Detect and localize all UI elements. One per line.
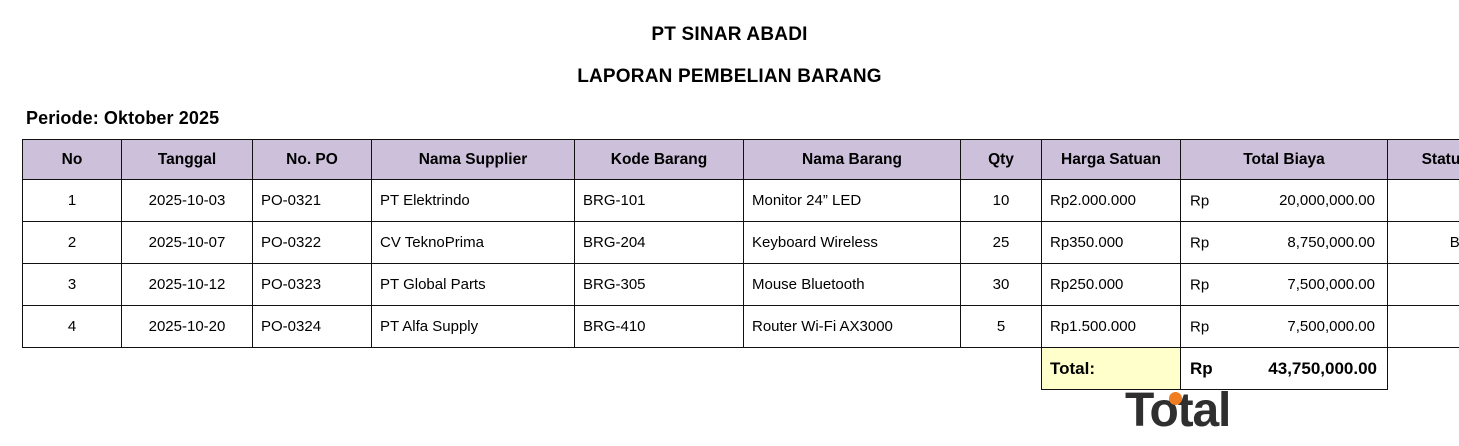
table-row[interactable]: 2 2025-10-07 PO-0322 CV TeknoPrima BRG-2… bbox=[23, 222, 1459, 264]
currency-symbol: Rp bbox=[1190, 276, 1209, 293]
purchase-report-table: No Tanggal No. PO Nama Supplier Kode Bar… bbox=[22, 139, 1459, 390]
orange-dot-icon bbox=[1169, 392, 1182, 405]
column-header-nama-supplier[interactable]: Nama Supplier bbox=[372, 140, 575, 180]
cell-tanggal: 2025-10-07 bbox=[122, 222, 253, 264]
spacer bbox=[575, 348, 744, 390]
amount-value: 7,500,000.00 bbox=[1181, 264, 1387, 305]
table-row[interactable]: 3 2025-10-12 PO-0323 PT Global Parts BRG… bbox=[23, 264, 1459, 306]
column-header-kode-barang[interactable]: Kode Barang bbox=[575, 140, 744, 180]
cell-no-po: PO-0323 bbox=[253, 264, 372, 306]
column-header-status-pembayaran[interactable]: Status Pembayaran bbox=[1388, 140, 1459, 180]
cell-nama-barang: Monitor 24” LED bbox=[744, 180, 961, 222]
cell-status-pembayaran: Lunas bbox=[1388, 180, 1459, 222]
cell-qty: 10 bbox=[961, 180, 1042, 222]
spacer bbox=[744, 348, 961, 390]
column-header-tanggal[interactable]: Tanggal bbox=[122, 140, 253, 180]
cell-status-pembayaran: Belum Lunas bbox=[1388, 222, 1459, 264]
cell-harga-satuan: Rp250.000 bbox=[1042, 264, 1181, 306]
spacer bbox=[1388, 348, 1459, 390]
cell-qty: 25 bbox=[961, 222, 1042, 264]
cell-total-biaya: Rp 7,500,000.00 bbox=[1181, 306, 1388, 348]
spacer bbox=[23, 348, 122, 390]
table-row[interactable]: 1 2025-10-03 PO-0321 PT Elektrindo BRG-1… bbox=[23, 180, 1459, 222]
amount-value: 20,000,000.00 bbox=[1181, 180, 1387, 221]
table-header-row: No Tanggal No. PO Nama Supplier Kode Bar… bbox=[23, 140, 1459, 180]
cell-total-biaya: Rp 20,000,000.00 bbox=[1181, 180, 1388, 222]
cell-no: 2 bbox=[23, 222, 122, 264]
spacer bbox=[122, 348, 253, 390]
cell-kode-barang: BRG-410 bbox=[575, 306, 744, 348]
cell-nama-barang: Router Wi-Fi AX3000 bbox=[744, 306, 961, 348]
cell-harga-satuan: Rp1.500.000 bbox=[1042, 306, 1181, 348]
cell-nama-supplier: CV TeknoPrima bbox=[372, 222, 575, 264]
amount-value: 7,500,000.00 bbox=[1181, 306, 1387, 347]
column-header-qty[interactable]: Qty bbox=[961, 140, 1042, 180]
column-header-no[interactable]: No bbox=[23, 140, 122, 180]
spacer bbox=[253, 348, 372, 390]
cell-tanggal: 2025-10-20 bbox=[122, 306, 253, 348]
period-label: Periode: Oktober 2025 bbox=[26, 108, 219, 129]
total-logo: Total bbox=[1125, 383, 1230, 439]
currency-symbol: Rp bbox=[1190, 192, 1209, 209]
column-header-harga-satuan[interactable]: Harga Satuan bbox=[1042, 140, 1181, 180]
table-body: 1 2025-10-03 PO-0321 PT Elektrindo BRG-1… bbox=[23, 180, 1459, 390]
document-title-block: PT SINAR ABADI LAPORAN PEMBELIAN BARANG bbox=[0, 22, 1459, 90]
cell-harga-satuan: Rp350.000 bbox=[1042, 222, 1181, 264]
cell-tanggal: 2025-10-12 bbox=[122, 264, 253, 306]
cell-kode-barang: BRG-101 bbox=[575, 180, 744, 222]
currency-symbol: Rp bbox=[1190, 234, 1209, 251]
report-title: LAPORAN PEMBELIAN BARANG bbox=[0, 64, 1459, 90]
amount-value: 8,750,000.00 bbox=[1181, 222, 1387, 263]
spacer bbox=[961, 348, 1042, 390]
cell-kode-barang: BRG-305 bbox=[575, 264, 744, 306]
total-summary-row: Total: Rp 43,750,000.00 bbox=[23, 348, 1459, 390]
cell-no: 1 bbox=[23, 180, 122, 222]
spacer bbox=[372, 348, 575, 390]
cell-status-pembayaran: Lunas bbox=[1388, 264, 1459, 306]
table-header: No Tanggal No. PO Nama Supplier Kode Bar… bbox=[23, 140, 1459, 180]
cell-no-po: PO-0324 bbox=[253, 306, 372, 348]
column-header-total-biaya[interactable]: Total Biaya bbox=[1181, 140, 1388, 180]
currency-symbol: Rp bbox=[1190, 318, 1209, 335]
cell-no: 3 bbox=[23, 264, 122, 306]
table-row[interactable]: 4 2025-10-20 PO-0324 PT Alfa Supply BRG-… bbox=[23, 306, 1459, 348]
cell-nama-barang: Mouse Bluetooth bbox=[744, 264, 961, 306]
cell-qty: 5 bbox=[961, 306, 1042, 348]
cell-qty: 30 bbox=[961, 264, 1042, 306]
cell-harga-satuan: Rp2.000.000 bbox=[1042, 180, 1181, 222]
cell-no-po: PO-0322 bbox=[253, 222, 372, 264]
cell-kode-barang: BRG-204 bbox=[575, 222, 744, 264]
cell-no: 4 bbox=[23, 306, 122, 348]
cell-nama-supplier: PT Global Parts bbox=[372, 264, 575, 306]
currency-symbol: Rp bbox=[1190, 359, 1213, 379]
column-header-no-po[interactable]: No. PO bbox=[253, 140, 372, 180]
cell-nama-barang: Keyboard Wireless bbox=[744, 222, 961, 264]
company-name: PT SINAR ABADI bbox=[0, 22, 1459, 48]
cell-status-pembayaran: Lunas bbox=[1388, 306, 1459, 348]
cell-total-biaya: Rp 7,500,000.00 bbox=[1181, 264, 1388, 306]
cell-nama-supplier: PT Alfa Supply bbox=[372, 306, 575, 348]
cell-total-biaya: Rp 8,750,000.00 bbox=[1181, 222, 1388, 264]
cell-no-po: PO-0321 bbox=[253, 180, 372, 222]
cell-nama-supplier: PT Elektrindo bbox=[372, 180, 575, 222]
cell-tanggal: 2025-10-03 bbox=[122, 180, 253, 222]
column-header-nama-barang[interactable]: Nama Barang bbox=[744, 140, 961, 180]
